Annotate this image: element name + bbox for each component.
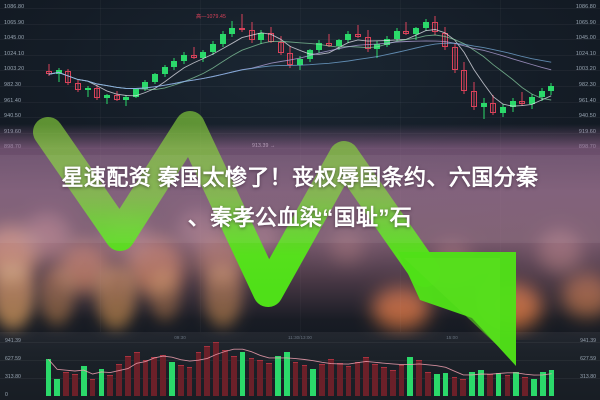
- light-reflection-streak: [40, 267, 74, 325]
- price-axis-tick-left: 961.40: [4, 99, 21, 104]
- page-title: 星速配资 秦国太惨了！丧权辱国条约、六国分秦 、秦孝公血染“国耻”石: [0, 158, 600, 238]
- moving-average-line-10: [49, 35, 551, 100]
- bokeh-circle: [432, 241, 472, 281]
- bokeh-circle: [562, 273, 600, 317]
- price-axis-tick-right: 1003.20: [576, 67, 596, 72]
- chart-annotation: 高—1079.45: [196, 13, 226, 20]
- price-axis-tick-left: 919.60: [4, 130, 21, 135]
- price-axis-tick-right: 961.40: [579, 99, 596, 104]
- price-axis-tick-left: 1065.90: [4, 21, 24, 26]
- light-reflection-streak: [0, 263, 34, 329]
- chart-annotation: 913.39 →: [252, 143, 275, 149]
- price-axis-tick-right: 940.50: [579, 114, 596, 119]
- headline-line-2: 、秦孝公血染“国耻”石: [0, 198, 600, 238]
- price-axis-tick-right: 898.70: [579, 145, 596, 150]
- bokeh-circle: [480, 283, 542, 329]
- moving-average-line-20: [49, 41, 551, 89]
- price-axis-tick-right: 1045.00: [576, 36, 596, 41]
- price-axis-tick-left: 1086.80: [4, 5, 24, 10]
- bokeh-circle: [372, 287, 430, 329]
- price-axis-tick-right: 1065.90: [576, 21, 596, 26]
- light-reflection-streak: [204, 265, 242, 327]
- moving-average-line-5: [49, 30, 551, 107]
- price-axis-tick-left: 940.50: [4, 114, 21, 119]
- volume-moving-average-line: [0, 332, 600, 400]
- light-reflection-streak: [150, 269, 180, 321]
- price-axis-tick-right: 1086.80: [576, 5, 596, 10]
- headline-line-1: 星速配资 秦国太惨了！丧权辱国条约、六国分秦: [0, 158, 600, 198]
- price-axis-tick-left: 1045.00: [4, 36, 24, 41]
- price-axis-tick-left: 1024.10: [4, 52, 24, 57]
- price-axis-tick-right: 982.30: [579, 83, 596, 88]
- price-axis-tick-right: 1024.10: [576, 52, 596, 57]
- volume-ma-polyline: [48, 349, 551, 375]
- screenshot-canvas: 1086.801065.901045.001024.101003.20982.3…: [0, 0, 600, 400]
- light-reflection-streak: [96, 265, 136, 329]
- price-axis-tick-right: 919.60: [579, 130, 596, 135]
- price-axis-tick-left: 982.30: [4, 83, 21, 88]
- price-axis-tick-left: 898.70: [4, 145, 21, 150]
- price-axis-tick-left: 1003.20: [4, 67, 24, 72]
